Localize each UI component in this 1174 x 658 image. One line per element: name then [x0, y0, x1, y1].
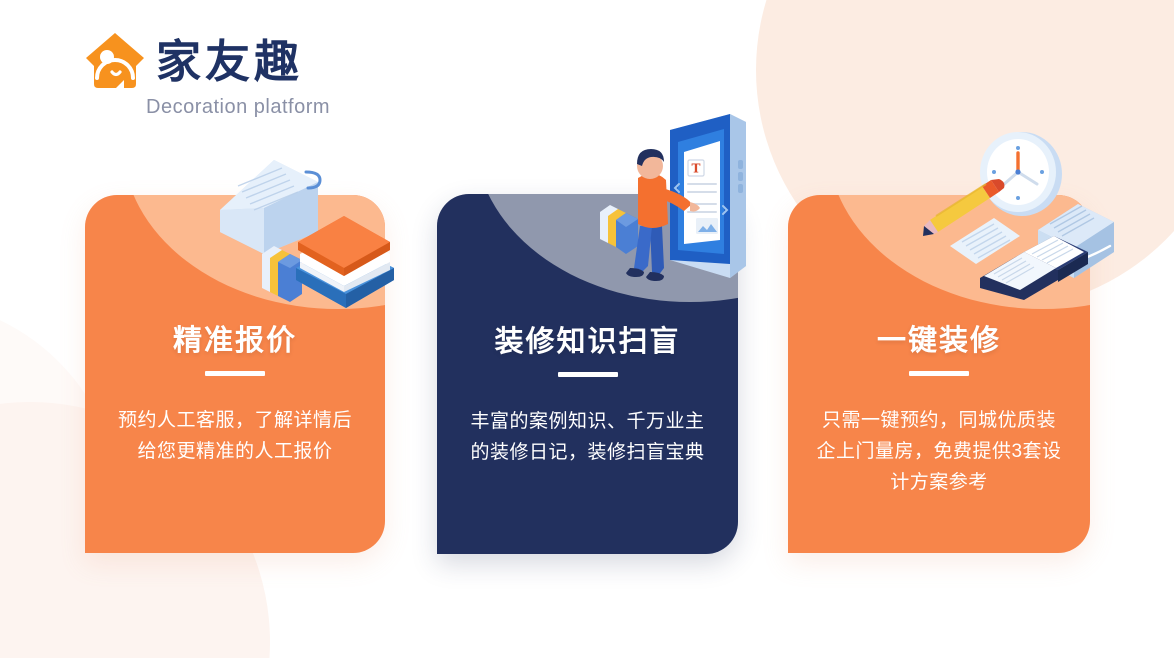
card-content: 一键装修 只需一键预约，同城优质装企上门量房，免费提供3套设计方案参考 — [788, 195, 1090, 553]
feature-card-accurate-quote[interactable]: 精准报价 预约人工客服，了解详情后给您更精准的人工报价 — [85, 195, 385, 553]
card-divider — [205, 371, 265, 376]
card-description: 只需一键预约，同城优质装企上门量房，免费提供3套设计方案参考 — [814, 405, 1064, 498]
card-content: 精准报价 预约人工客服，了解详情后给您更精准的人工报价 — [85, 195, 385, 553]
card-title: 一键装修 — [788, 317, 1090, 359]
brand-logo[interactable]: 家友趣 Decoration platform — [84, 30, 330, 119]
house-smile-icon — [84, 30, 146, 92]
feature-card-one-click-decoration[interactable]: 一键装修 只需一键预约，同城优质装企上门量房，免费提供3套设计方案参考 — [788, 195, 1090, 553]
brand-name: 家友趣 — [156, 39, 303, 84]
svg-text:T: T — [692, 162, 701, 176]
slide-canvas: 家友趣 Decoration platform 精准报价 预约人工客服，了解详情… — [0, 0, 1174, 658]
card-divider — [909, 371, 969, 376]
card-title: 装修知识扫盲 — [437, 318, 738, 360]
card-divider — [558, 372, 618, 377]
brand-logo-row: 家友趣 — [84, 30, 330, 92]
card-description: 丰富的案例知识、千万业主的装修日记，装修扫盲宝典 — [463, 406, 712, 468]
feature-card-decoration-knowledge[interactable]: 装修知识扫盲 丰富的案例知识、千万业主的装修日记，装修扫盲宝典 — [437, 194, 738, 554]
card-title: 精准报价 — [85, 317, 385, 359]
card-description: 预约人工客服，了解详情后给您更精准的人工报价 — [111, 405, 359, 467]
brand-tagline: Decoration platform — [146, 96, 330, 119]
card-content: 装修知识扫盲 丰富的案例知识、千万业主的装修日记，装修扫盲宝典 — [437, 194, 738, 554]
